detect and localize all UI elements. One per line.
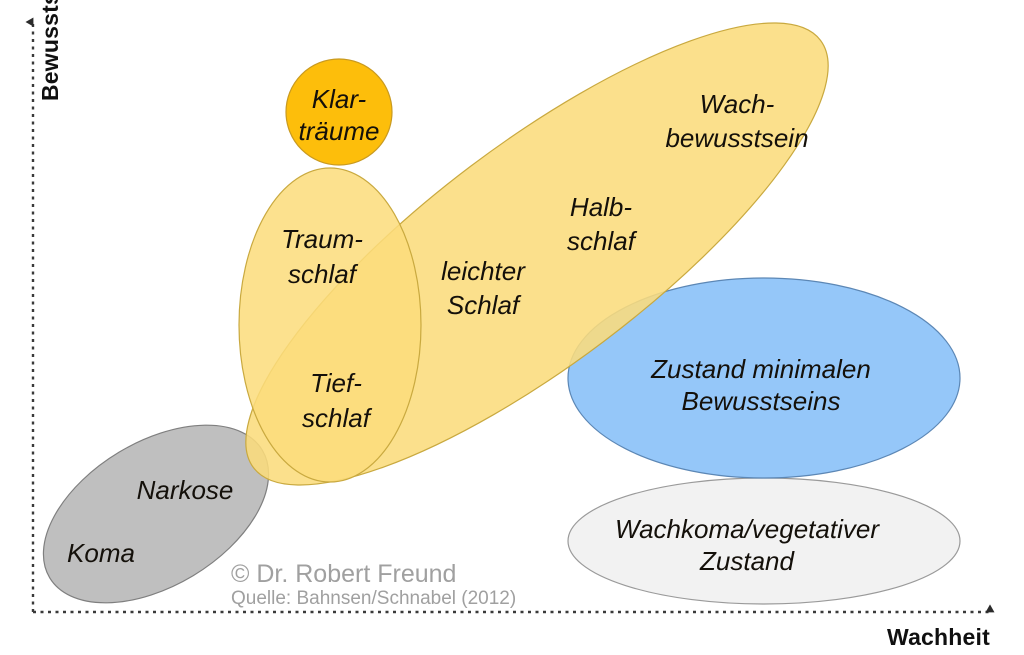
klartraeume-label-line2: träume (299, 116, 380, 146)
x-axis-label: Wachheit (887, 624, 990, 650)
y-axis-label: Bewusstsein (37, 0, 63, 101)
label-koma: Koma (67, 538, 135, 568)
leichter-schlaf-label-line2: Schlaf (447, 290, 522, 320)
koma-label: Koma (67, 538, 135, 568)
credit-line-2: Quelle: Bahnsen/Schnabel (2012) (231, 588, 516, 609)
wachkoma-label-line1: Wachkoma/vegetativer (615, 514, 880, 544)
wachbewusstsein-label-line1: Wach- (700, 89, 775, 119)
diagram-canvas: Klar- träume Traum- schlaf Tief- schlaf … (0, 0, 1024, 655)
narkose-label: Narkose (137, 475, 234, 505)
wachbewusstsein-label-line2: bewusstsein (665, 123, 808, 153)
tiefschlaf-label-line2: schlaf (302, 403, 373, 433)
traumschlaf-label-line2: schlaf (288, 259, 359, 289)
credit-line-1: © Dr. Robert Freund (231, 560, 456, 588)
label-narkose: Narkose (137, 475, 234, 505)
leichter-schlaf-label-line1: leichter (441, 256, 526, 286)
minimal-consciousness-label-line2: Bewusstseins (682, 386, 841, 416)
consciousness-states-diagram: Klar- träume Traum- schlaf Tief- schlaf … (0, 0, 1024, 655)
halbschlaf-label-line2: schlaf (567, 226, 638, 256)
credit-block: © Dr. Robert Freund Quelle: Bahnsen/Schn… (231, 560, 516, 609)
halbschlaf-label-line1: Halb- (570, 192, 632, 222)
dream-deep-sleep-ellipse[interactable] (239, 168, 421, 482)
tiefschlaf-label-line1: Tief- (310, 368, 362, 398)
wachkoma-label-line2: Zustand (699, 546, 795, 576)
region-dream-deep-sleep[interactable] (239, 168, 421, 482)
minimal-consciousness-label-line1: Zustand minimalen (650, 354, 871, 384)
klartraeume-label-line1: Klar- (312, 84, 367, 114)
traumschlaf-label-line1: Traum- (281, 224, 363, 254)
